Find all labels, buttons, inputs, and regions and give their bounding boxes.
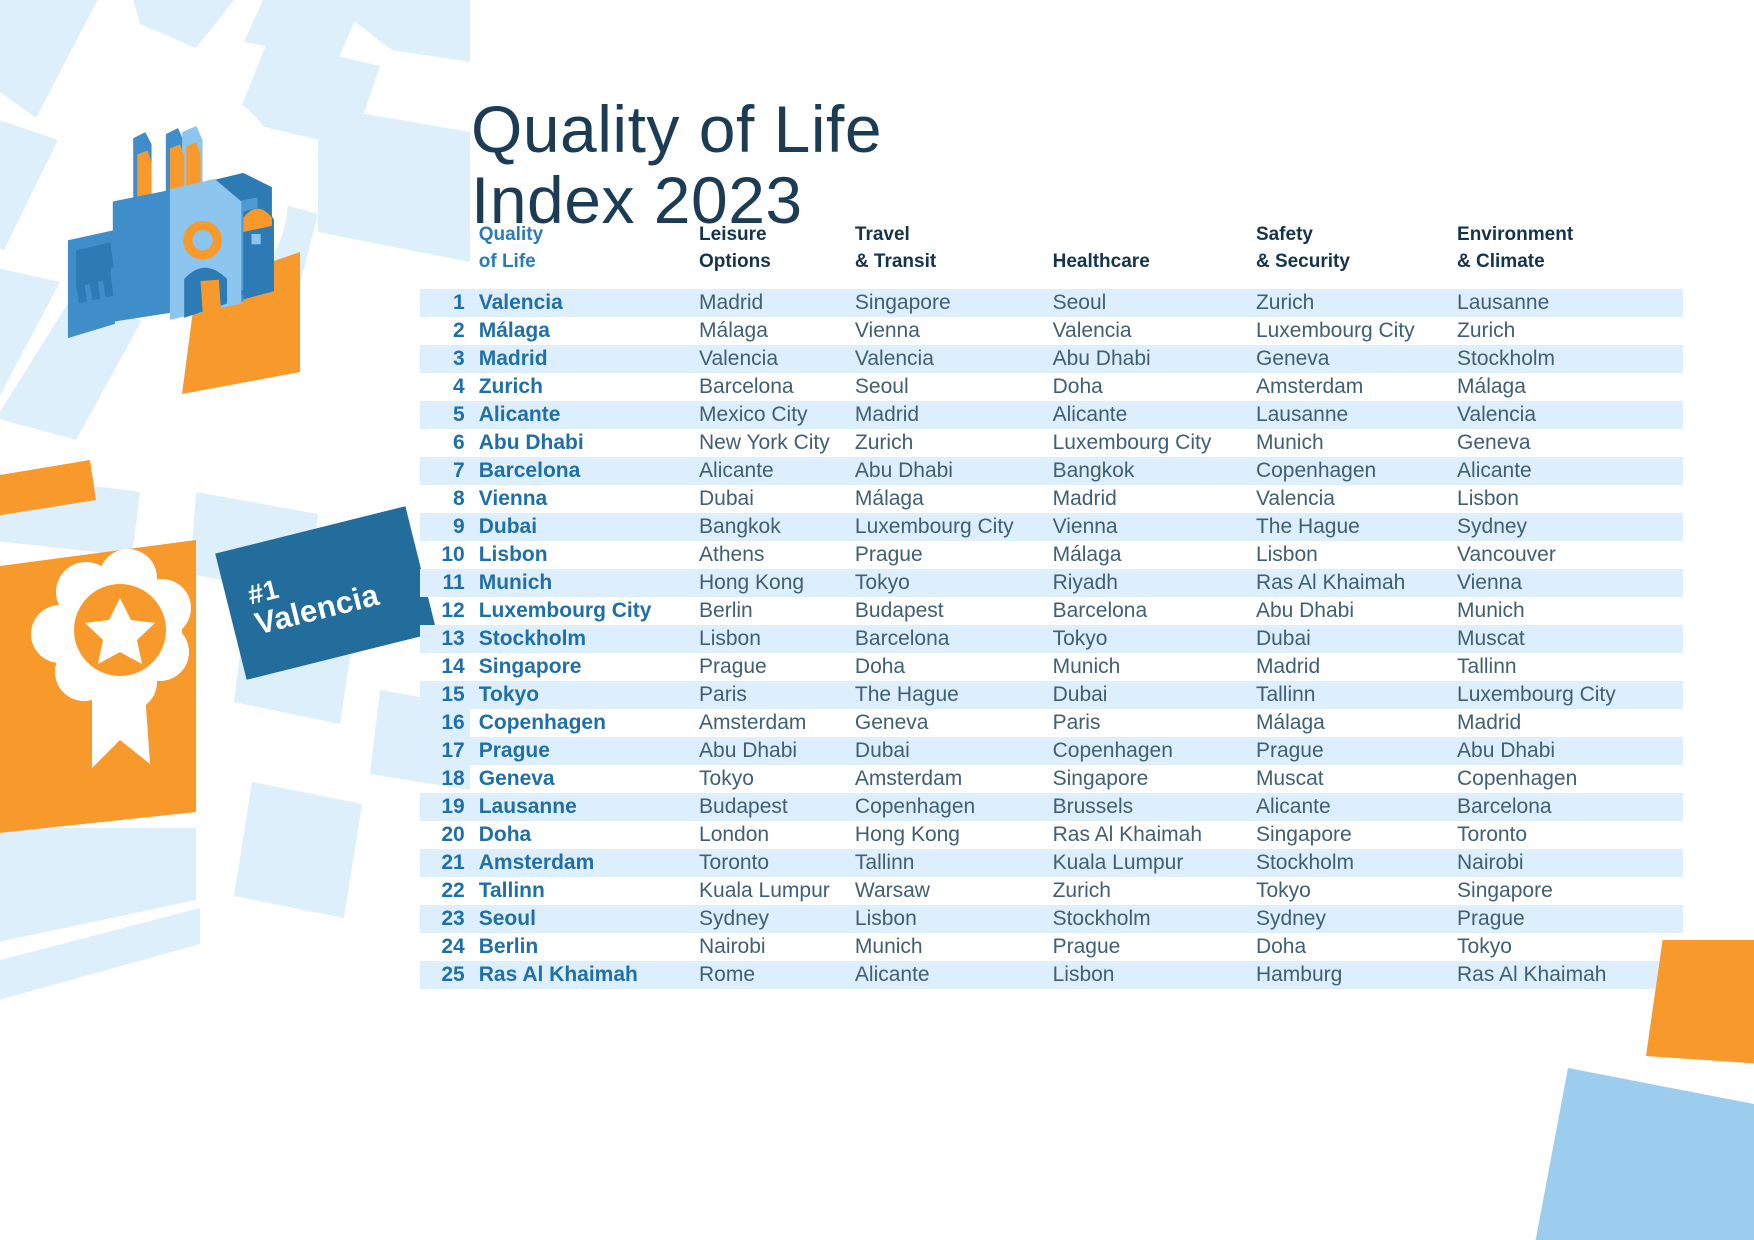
cell-travel-transit: Vienna xyxy=(855,317,1053,345)
cell-quality-of-life: Munich xyxy=(479,569,699,597)
table-row: 15TokyoParisThe HagueDubaiTallinnLuxembo… xyxy=(420,681,1683,709)
cell-quality-of-life: Stockholm xyxy=(479,625,699,653)
cell-safety-security: Ras Al Khaimah xyxy=(1256,569,1457,597)
cell-travel-transit: Amsterdam xyxy=(855,765,1053,793)
orange-block-badge xyxy=(0,540,196,836)
cell-safety-security: Copenhagen xyxy=(1256,457,1457,485)
table-row: 12Luxembourg CityBerlinBudapestBarcelona… xyxy=(420,597,1683,625)
cell-leisure-options: Budapest xyxy=(699,793,855,821)
cell-travel-transit: Valencia xyxy=(855,345,1053,373)
table-row: 7BarcelonaAlicanteAbu DhabiBangkokCopenh… xyxy=(420,457,1683,485)
cell-environment-climate: Barcelona xyxy=(1457,793,1683,821)
ranking-table-container: Quality of Life Leisure Options Travel &… xyxy=(420,222,1690,989)
table-row: 10LisbonAthensPragueMálagaLisbonVancouve… xyxy=(420,541,1683,569)
cell-safety-security: Prague xyxy=(1256,737,1457,765)
cell-travel-transit: Munich xyxy=(855,933,1053,961)
award-rosette-icon xyxy=(31,549,191,768)
table-row: 1ValenciaMadridSingaporeSeoulZurichLausa… xyxy=(420,289,1683,317)
cell-travel-transit: Tokyo xyxy=(855,569,1053,597)
cell-leisure-options: Bangkok xyxy=(699,513,855,541)
column-header-leisure-options: Leisure Options xyxy=(699,222,855,289)
cell-quality-of-life: Lausanne xyxy=(479,793,699,821)
cell-travel-transit: Barcelona xyxy=(855,625,1053,653)
cell-environment-climate: Málaga xyxy=(1457,373,1683,401)
cell-safety-security: Munich xyxy=(1256,429,1457,457)
table-row: 21AmsterdamTorontoTallinnKuala LumpurSto… xyxy=(420,849,1683,877)
cell-leisure-options: Paris xyxy=(699,681,855,709)
cell-environment-climate: Madrid xyxy=(1457,709,1683,737)
cell-healthcare: Riyadh xyxy=(1053,569,1256,597)
cell-healthcare: Málaga xyxy=(1053,541,1256,569)
cell-safety-security: Geneva xyxy=(1256,345,1457,373)
table-row: 9DubaiBangkokLuxembourg CityViennaThe Ha… xyxy=(420,513,1683,541)
cell-healthcare: Alicante xyxy=(1053,401,1256,429)
cell-rank: 25 xyxy=(420,961,479,989)
cell-quality-of-life: Seoul xyxy=(479,905,699,933)
cell-safety-security: Hamburg xyxy=(1256,961,1457,989)
cell-leisure-options: Lisbon xyxy=(699,625,855,653)
table-row: 4ZurichBarcelonaSeoulDohaAmsterdamMálaga xyxy=(420,373,1683,401)
cell-environment-climate: Stockholm xyxy=(1457,345,1683,373)
cell-healthcare: Munich xyxy=(1053,653,1256,681)
cell-rank: 7 xyxy=(420,457,479,485)
cell-quality-of-life: Vienna xyxy=(479,485,699,513)
cell-leisure-options: Toronto xyxy=(699,849,855,877)
cell-safety-security: Stockholm xyxy=(1256,849,1457,877)
cell-healthcare: Copenhagen xyxy=(1053,737,1256,765)
cell-environment-climate: Copenhagen xyxy=(1457,765,1683,793)
cell-healthcare: Tokyo xyxy=(1053,625,1256,653)
cell-environment-climate: Prague xyxy=(1457,905,1683,933)
cell-environment-climate: Lausanne xyxy=(1457,289,1683,317)
cell-rank: 2 xyxy=(420,317,479,345)
table-row: 5AlicanteMexico CityMadridAlicanteLausan… xyxy=(420,401,1683,429)
cell-healthcare: Paris xyxy=(1053,709,1256,737)
column-header-safety-security: Safety & Security xyxy=(1256,222,1457,289)
cell-safety-security: Madrid xyxy=(1256,653,1457,681)
cell-rank: 12 xyxy=(420,597,479,625)
cell-quality-of-life: Luxembourg City xyxy=(479,597,699,625)
cell-rank: 3 xyxy=(420,345,479,373)
cell-rank: 18 xyxy=(420,765,479,793)
cell-quality-of-life: Singapore xyxy=(479,653,699,681)
cell-environment-climate: Zurich xyxy=(1457,317,1683,345)
table-row: 3MadridValenciaValenciaAbu DhabiGenevaSt… xyxy=(420,345,1683,373)
table-row: 14SingaporePragueDohaMunichMadridTallinn xyxy=(420,653,1683,681)
cell-leisure-options: Prague xyxy=(699,653,855,681)
cell-quality-of-life: Tokyo xyxy=(479,681,699,709)
table-row: 25Ras Al KhaimahRomeAlicanteLisbonHambur… xyxy=(420,961,1683,989)
cell-quality-of-life: Lisbon xyxy=(479,541,699,569)
cell-healthcare: Bangkok xyxy=(1053,457,1256,485)
cell-leisure-options: Berlin xyxy=(699,597,855,625)
cell-environment-climate: Muscat xyxy=(1457,625,1683,653)
cell-travel-transit: Málaga xyxy=(855,485,1053,513)
table-row: 2MálagaMálagaViennaValenciaLuxembourg Ci… xyxy=(420,317,1683,345)
table-row: 16CopenhagenAmsterdamGenevaParisMálagaMa… xyxy=(420,709,1683,737)
cell-rank: 24 xyxy=(420,933,479,961)
table-body: 1ValenciaMadridSingaporeSeoulZurichLausa… xyxy=(420,289,1683,989)
cell-travel-transit: Prague xyxy=(855,541,1053,569)
cell-safety-security: Doha xyxy=(1256,933,1457,961)
cell-rank: 20 xyxy=(420,821,479,849)
column-header-travel-transit: Travel & Transit xyxy=(855,222,1053,289)
cell-quality-of-life: Abu Dhabi xyxy=(479,429,699,457)
cell-healthcare: Lisbon xyxy=(1053,961,1256,989)
table-row: 6Abu DhabiNew York CityZurichLuxembourg … xyxy=(420,429,1683,457)
cell-travel-transit: Luxembourg City xyxy=(855,513,1053,541)
cell-environment-climate: Luxembourg City xyxy=(1457,681,1683,709)
cell-travel-transit: Warsaw xyxy=(855,877,1053,905)
cell-healthcare: Seoul xyxy=(1053,289,1256,317)
cell-environment-climate: Sydney xyxy=(1457,513,1683,541)
quality-of-life-table: Quality of Life Leisure Options Travel &… xyxy=(420,222,1683,989)
cell-quality-of-life: Tallinn xyxy=(479,877,699,905)
cell-leisure-options: Abu Dhabi xyxy=(699,737,855,765)
table-row: 20DohaLondonHong KongRas Al KhaimahSinga… xyxy=(420,821,1683,849)
cell-quality-of-life: Doha xyxy=(479,821,699,849)
cell-healthcare: Ras Al Khaimah xyxy=(1053,821,1256,849)
cell-travel-transit: Tallinn xyxy=(855,849,1053,877)
cell-quality-of-life: Madrid xyxy=(479,345,699,373)
table-row: 19LausanneBudapestCopenhagenBrusselsAlic… xyxy=(420,793,1683,821)
cell-environment-climate: Alicante xyxy=(1457,457,1683,485)
cell-healthcare: Doha xyxy=(1053,373,1256,401)
cell-rank: 13 xyxy=(420,625,479,653)
cell-environment-climate: Tallinn xyxy=(1457,653,1683,681)
cell-rank: 9 xyxy=(420,513,479,541)
cell-rank: 4 xyxy=(420,373,479,401)
cell-quality-of-life: Copenhagen xyxy=(479,709,699,737)
cell-environment-climate: Ras Al Khaimah xyxy=(1457,961,1683,989)
cell-leisure-options: Mexico City xyxy=(699,401,855,429)
cell-leisure-options: Dubai xyxy=(699,485,855,513)
cell-travel-transit: The Hague xyxy=(855,681,1053,709)
cell-safety-security: Dubai xyxy=(1256,625,1457,653)
cell-healthcare: Vienna xyxy=(1053,513,1256,541)
cell-rank: 22 xyxy=(420,877,479,905)
cell-leisure-options: Nairobi xyxy=(699,933,855,961)
column-header-healthcare: Healthcare xyxy=(1053,222,1256,289)
column-header-quality-of-life: Quality of Life xyxy=(479,222,699,289)
cell-safety-security: Lisbon xyxy=(1256,541,1457,569)
cell-safety-security: Singapore xyxy=(1256,821,1457,849)
table-row: 17PragueAbu DhabiDubaiCopenhagenPragueAb… xyxy=(420,737,1683,765)
cell-travel-transit: Dubai xyxy=(855,737,1053,765)
table-row: 24BerlinNairobiMunichPragueDohaTokyo xyxy=(420,933,1683,961)
cell-travel-transit: Madrid xyxy=(855,401,1053,429)
cell-travel-transit: Copenhagen xyxy=(855,793,1053,821)
column-header-rank xyxy=(420,222,479,289)
cell-quality-of-life: Prague xyxy=(479,737,699,765)
table-row: 18GenevaTokyoAmsterdamSingaporeMuscatCop… xyxy=(420,765,1683,793)
cell-safety-security: Zurich xyxy=(1256,289,1457,317)
cell-quality-of-life: Alicante xyxy=(479,401,699,429)
cell-leisure-options: London xyxy=(699,821,855,849)
cell-rank: 15 xyxy=(420,681,479,709)
cell-quality-of-life: Zurich xyxy=(479,373,699,401)
cell-travel-transit: Geneva xyxy=(855,709,1053,737)
cell-leisure-options: Rome xyxy=(699,961,855,989)
table-row: 11MunichHong KongTokyoRiyadhRas Al Khaim… xyxy=(420,569,1683,597)
cell-safety-security: Amsterdam xyxy=(1256,373,1457,401)
cell-safety-security: Tokyo xyxy=(1256,877,1457,905)
cell-healthcare: Zurich xyxy=(1053,877,1256,905)
cell-safety-security: Sydney xyxy=(1256,905,1457,933)
cell-rank: 11 xyxy=(420,569,479,597)
cell-leisure-options: Amsterdam xyxy=(699,709,855,737)
cell-travel-transit: Hong Kong xyxy=(855,821,1053,849)
cell-quality-of-life: Berlin xyxy=(479,933,699,961)
cell-leisure-options: Hong Kong xyxy=(699,569,855,597)
cell-leisure-options: Barcelona xyxy=(699,373,855,401)
column-header-environment-climate: Environment & Climate xyxy=(1457,222,1683,289)
cell-leisure-options: Madrid xyxy=(699,289,855,317)
cell-environment-climate: Nairobi xyxy=(1457,849,1683,877)
cell-leisure-options: Valencia xyxy=(699,345,855,373)
cell-healthcare: Singapore xyxy=(1053,765,1256,793)
cell-leisure-options: Málaga xyxy=(699,317,855,345)
table-row: 22TallinnKuala LumpurWarsawZurichTokyoSi… xyxy=(420,877,1683,905)
cell-rank: 16 xyxy=(420,709,479,737)
cell-rank: 6 xyxy=(420,429,479,457)
cell-quality-of-life: Málaga xyxy=(479,317,699,345)
cell-environment-climate: Geneva xyxy=(1457,429,1683,457)
cell-leisure-options: Sydney xyxy=(699,905,855,933)
cell-healthcare: Luxembourg City xyxy=(1053,429,1256,457)
cell-environment-climate: Singapore xyxy=(1457,877,1683,905)
page-title: Quality of Life Index 2023 xyxy=(471,94,1371,235)
orange-block-top xyxy=(182,252,300,394)
table-header-row: Quality of Life Leisure Options Travel &… xyxy=(420,222,1683,289)
cell-safety-security: Tallinn xyxy=(1256,681,1457,709)
cell-travel-transit: Doha xyxy=(855,653,1053,681)
cell-healthcare: Valencia xyxy=(1053,317,1256,345)
cell-rank: 10 xyxy=(420,541,479,569)
table-row: 23SeoulSydneyLisbonStockholmSydneyPrague xyxy=(420,905,1683,933)
cell-safety-security: Abu Dhabi xyxy=(1256,597,1457,625)
cell-travel-transit: Lisbon xyxy=(855,905,1053,933)
cell-quality-of-life: Ras Al Khaimah xyxy=(479,961,699,989)
rank-one-badge: #1 Valencia xyxy=(215,506,437,680)
cell-travel-transit: Alicante xyxy=(855,961,1053,989)
cell-safety-security: Muscat xyxy=(1256,765,1457,793)
cell-environment-climate: Vienna xyxy=(1457,569,1683,597)
table-header: Quality of Life Leisure Options Travel &… xyxy=(420,222,1683,289)
cell-rank: 14 xyxy=(420,653,479,681)
cell-safety-security: Málaga xyxy=(1256,709,1457,737)
cell-safety-security: Luxembourg City xyxy=(1256,317,1457,345)
cell-environment-climate: Munich xyxy=(1457,597,1683,625)
cell-rank: 1 xyxy=(420,289,479,317)
cell-environment-climate: Tokyo xyxy=(1457,933,1683,961)
cell-leisure-options: Alicante xyxy=(699,457,855,485)
table-row: 8ViennaDubaiMálagaMadridValenciaLisbon xyxy=(420,485,1683,513)
cell-healthcare: Barcelona xyxy=(1053,597,1256,625)
cell-travel-transit: Singapore xyxy=(855,289,1053,317)
cell-rank: 21 xyxy=(420,849,479,877)
cell-travel-transit: Budapest xyxy=(855,597,1053,625)
map-blocks xyxy=(0,0,470,1008)
cell-travel-transit: Abu Dhabi xyxy=(855,457,1053,485)
cell-quality-of-life: Geneva xyxy=(479,765,699,793)
cell-travel-transit: Seoul xyxy=(855,373,1053,401)
cell-quality-of-life: Dubai xyxy=(479,513,699,541)
table-row: 13StockholmLisbonBarcelonaTokyoDubaiMusc… xyxy=(420,625,1683,653)
cell-leisure-options: New York City xyxy=(699,429,855,457)
cell-rank: 17 xyxy=(420,737,479,765)
blue-corner-shape xyxy=(1530,1068,1754,1240)
cell-leisure-options: Kuala Lumpur xyxy=(699,877,855,905)
cell-safety-security: The Hague xyxy=(1256,513,1457,541)
cell-travel-transit: Zurich xyxy=(855,429,1053,457)
cell-environment-climate: Valencia xyxy=(1457,401,1683,429)
cell-healthcare: Prague xyxy=(1053,933,1256,961)
cell-rank: 19 xyxy=(420,793,479,821)
cell-healthcare: Brussels xyxy=(1053,793,1256,821)
roundabout xyxy=(52,80,288,316)
cell-environment-climate: Vancouver xyxy=(1457,541,1683,569)
cathedral-icon xyxy=(68,126,274,338)
cell-healthcare: Dubai xyxy=(1053,681,1256,709)
cell-leisure-options: Athens xyxy=(699,541,855,569)
cell-rank: 23 xyxy=(420,905,479,933)
cell-rank: 8 xyxy=(420,485,479,513)
cell-safety-security: Lausanne xyxy=(1256,401,1457,429)
cell-rank: 5 xyxy=(420,401,479,429)
cell-quality-of-life: Amsterdam xyxy=(479,849,699,877)
cell-safety-security: Valencia xyxy=(1256,485,1457,513)
cell-healthcare: Madrid xyxy=(1053,485,1256,513)
cell-environment-climate: Abu Dhabi xyxy=(1457,737,1683,765)
cell-safety-security: Alicante xyxy=(1256,793,1457,821)
cell-quality-of-life: Barcelona xyxy=(479,457,699,485)
cell-leisure-options: Tokyo xyxy=(699,765,855,793)
cell-healthcare: Abu Dhabi xyxy=(1053,345,1256,373)
cell-healthcare: Kuala Lumpur xyxy=(1053,849,1256,877)
cell-environment-climate: Lisbon xyxy=(1457,485,1683,513)
cell-environment-climate: Toronto xyxy=(1457,821,1683,849)
cell-quality-of-life: Valencia xyxy=(479,289,699,317)
cell-healthcare: Stockholm xyxy=(1053,905,1256,933)
